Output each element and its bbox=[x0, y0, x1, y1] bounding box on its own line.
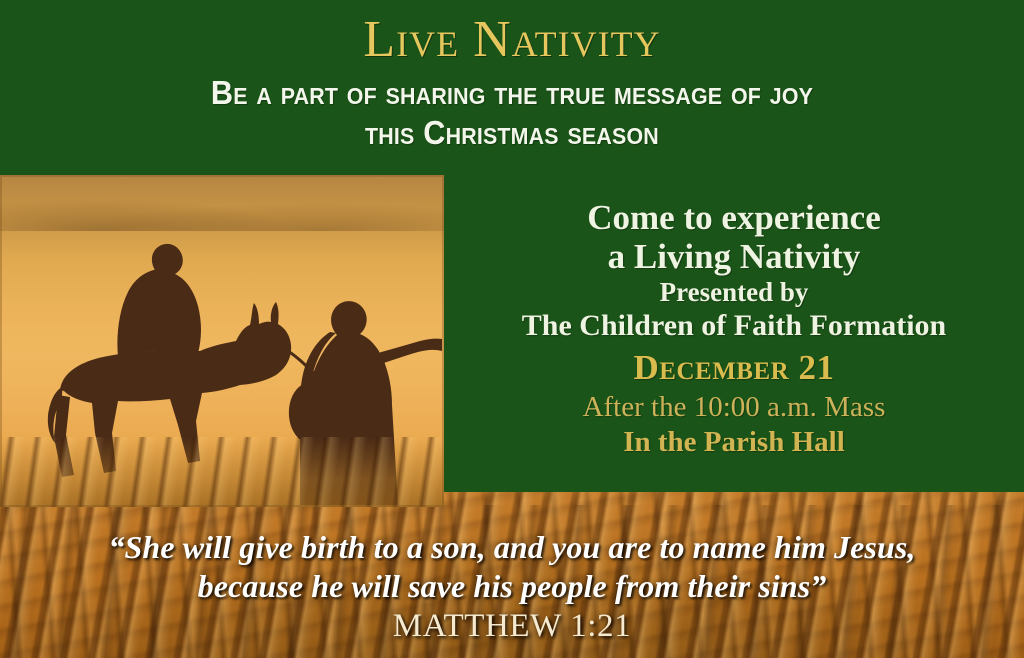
event-info-panel: Come to experience a Living Nativity Pre… bbox=[444, 176, 1024, 492]
header-band: Live Nativity Be a part of sharing the t… bbox=[0, 0, 1024, 176]
event-time: After the 10:00 a.m. Mass bbox=[444, 391, 1024, 423]
subtitle-line-2: this Christmas season bbox=[36, 113, 988, 153]
scripture-quote-line-2: because he will save his people from the… bbox=[0, 567, 1024, 606]
info-line-presenter: The Children of Faith Formation bbox=[444, 309, 1024, 343]
event-location: In the Parish Hall bbox=[444, 426, 1024, 458]
info-line-presented-by: Presented by bbox=[444, 277, 1024, 307]
subtitle-line-1: Be a part of sharing the true message of… bbox=[36, 67, 988, 113]
nativity-silhouette-photo bbox=[0, 175, 444, 507]
page-title: Live Nativity bbox=[0, 0, 1024, 67]
info-line-come-to-experience: Come to experience bbox=[444, 198, 1024, 237]
scripture-block: “She will give birth to a son, and you a… bbox=[0, 528, 1024, 645]
scripture-citation: MATTHEW 1:21 bbox=[0, 608, 1024, 645]
photo-frame bbox=[0, 175, 444, 507]
scripture-quote-line-1: “She will give birth to a son, and you a… bbox=[0, 528, 1024, 567]
event-date: December 21 bbox=[444, 348, 1024, 387]
info-line-a-living-nativity: a Living Nativity bbox=[444, 237, 1024, 276]
live-nativity-poster: Live Nativity Be a part of sharing the t… bbox=[0, 0, 1024, 658]
